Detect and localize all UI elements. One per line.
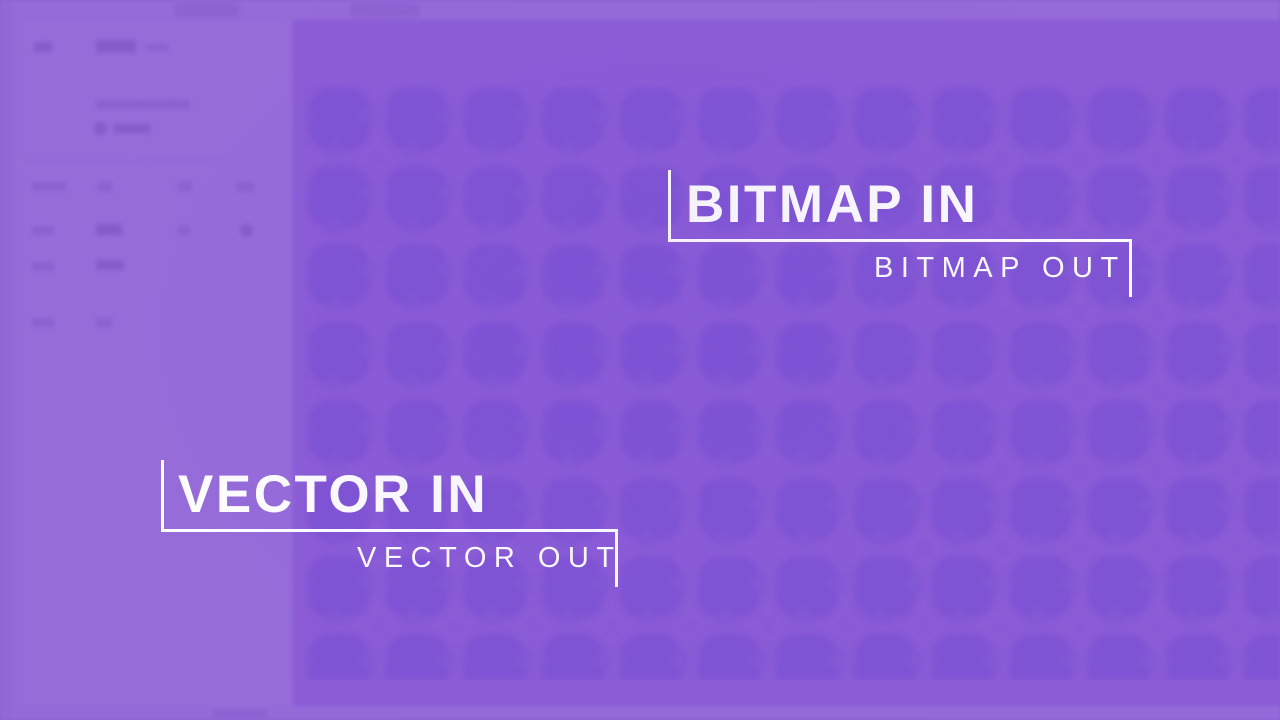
callout-bitmap-subline: BITMAP OUT — [874, 254, 1126, 283]
table-row-1-col-2 — [98, 182, 112, 192]
callout-vector-headline: VECTOR IN — [178, 468, 488, 521]
table-row-1-col-4 — [236, 182, 254, 192]
bracket-left-rule — [668, 170, 671, 242]
bracket-left-rule — [161, 460, 164, 532]
table-row-4-col-1 — [32, 318, 54, 327]
section-value — [114, 124, 150, 133]
divider-1 — [22, 160, 270, 161]
app-sidebar-panel — [14, 20, 293, 706]
table-row-3-col-2 — [96, 260, 124, 270]
app-tab-1[interactable] — [175, 3, 239, 17]
section-label — [96, 100, 190, 109]
callout-bitmap-headline: BITMAP IN — [686, 178, 978, 231]
app-left-rail — [0, 0, 14, 720]
table-row-3-col-1 — [32, 262, 54, 271]
app-status-bar — [14, 706, 1280, 720]
table-row-4-col-2 — [96, 318, 112, 327]
callout-vector: VECTOR IN VECTOR OUT — [161, 460, 624, 590]
callout-vector-subline: VECTOR OUT — [357, 544, 622, 573]
table-row-2-col-2 — [96, 224, 122, 235]
app-status-chip[interactable] — [212, 709, 268, 718]
sidebar-subtitle — [146, 44, 168, 51]
sidebar-title — [96, 40, 136, 53]
section-status-dot — [94, 122, 107, 135]
table-row-2-col-1 — [32, 226, 54, 235]
bracket-right-rule — [1129, 239, 1132, 297]
table-row-2-status-dot — [240, 224, 253, 237]
sidebar-back-icon[interactable] — [34, 42, 52, 52]
table-row-1-col-1 — [32, 182, 66, 191]
screen-canvas: BITMAP IN BITMAP OUT VECTOR IN VECTOR OU… — [0, 0, 1280, 720]
table-row-1-col-3 — [178, 182, 192, 192]
table-row-2-col-3 — [178, 226, 190, 236]
bracket-horizontal-rule — [668, 239, 1132, 242]
bracket-horizontal-rule — [161, 529, 618, 532]
app-tab-2[interactable] — [350, 3, 420, 17]
callout-bitmap: BITMAP IN BITMAP OUT — [668, 170, 1138, 300]
